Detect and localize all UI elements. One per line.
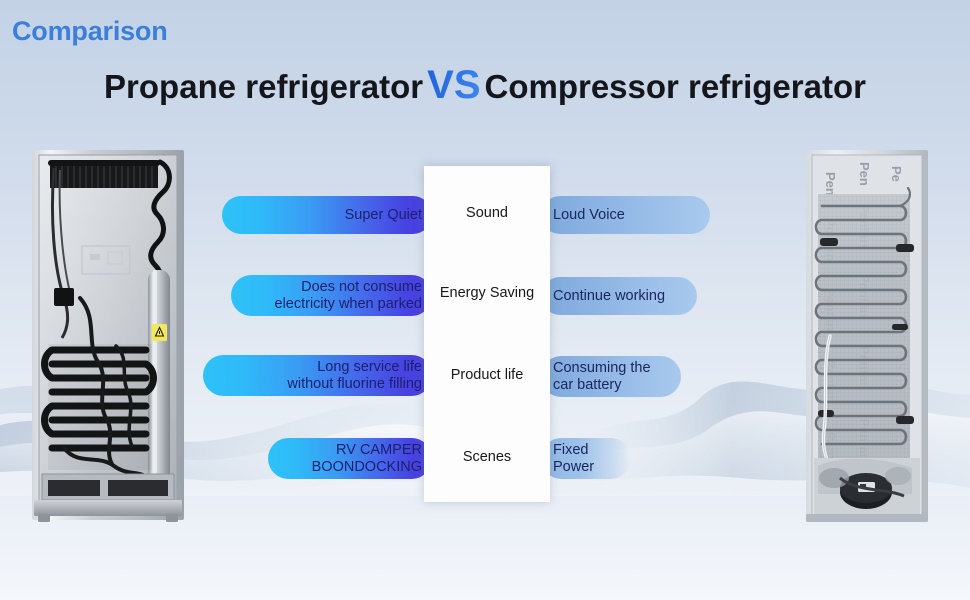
pill-left-life-line1: Long service life [287, 359, 422, 376]
title-left-product: Propane refrigerator [104, 68, 423, 105]
pill-right-energy-saving: Continue working [541, 277, 697, 315]
svg-text:Pe: Pe [889, 166, 904, 182]
pill-left-scenes: RV CAMPER BOONDOCKING [268, 438, 432, 479]
warning-label [152, 324, 167, 341]
pill-left-sound: Super Quiet [222, 196, 432, 234]
criterion-label-sound: Sound [424, 205, 550, 222]
compressor-refrigerator-photo: Pen Pentan Pentan Pentan Penta Pen Penta… [800, 148, 936, 526]
pill-right-life-line1: Consuming the [553, 360, 651, 377]
title-right-product: Compressor refrigerator [485, 68, 866, 105]
pill-left-product-life: Long service life without fluorine filli… [203, 355, 432, 396]
section-label: Comparison [12, 16, 168, 47]
comparison-infographic: Comparison Propane refrigeratorVSCompres… [0, 0, 970, 600]
criterion-label-scenes: Scenes [424, 449, 550, 466]
pill-left-scenes-line1: RV CAMPER [312, 442, 422, 459]
condenser-fins-top [48, 160, 160, 188]
pill-right-sound: Loud Voice [541, 196, 710, 234]
propane-refrigerator-photo [20, 148, 215, 526]
criterion-label-product-life: Product life [424, 367, 550, 384]
pill-right-scenes-line1: Fixed [553, 442, 594, 459]
pill-right-product-life: Consuming the car battery [541, 356, 681, 397]
page-title: Propane refrigeratorVSCompressor refrige… [0, 63, 970, 108]
pill-left-life-line2: without fluorine filling [287, 376, 422, 393]
pill-right-scenes: Fixed Power [541, 438, 631, 479]
pill-left-energy-line2: electricity when parked [275, 296, 423, 313]
pill-right-sound-text: Loud Voice [553, 207, 625, 224]
pill-right-life-line2: car battery [553, 377, 651, 394]
criteria-panel: Sound Energy Saving Product life Scenes [424, 166, 550, 502]
svg-text:Pen: Pen [857, 162, 872, 186]
svg-text:Pen: Pen [823, 172, 838, 196]
pill-left-energy-saving: Does not consume electricity when parked [231, 275, 432, 316]
pill-left-sound-text: Super Quiet [345, 207, 422, 224]
criterion-label-energy-saving: Energy Saving [424, 285, 550, 302]
vs-badge: VS [423, 63, 484, 107]
pill-right-scenes-line2: Power [553, 459, 594, 476]
pill-left-energy-line1: Does not consume [275, 279, 423, 296]
pill-left-scenes-line2: BOONDOCKING [312, 459, 422, 476]
pill-right-energy-text: Continue working [553, 288, 665, 305]
